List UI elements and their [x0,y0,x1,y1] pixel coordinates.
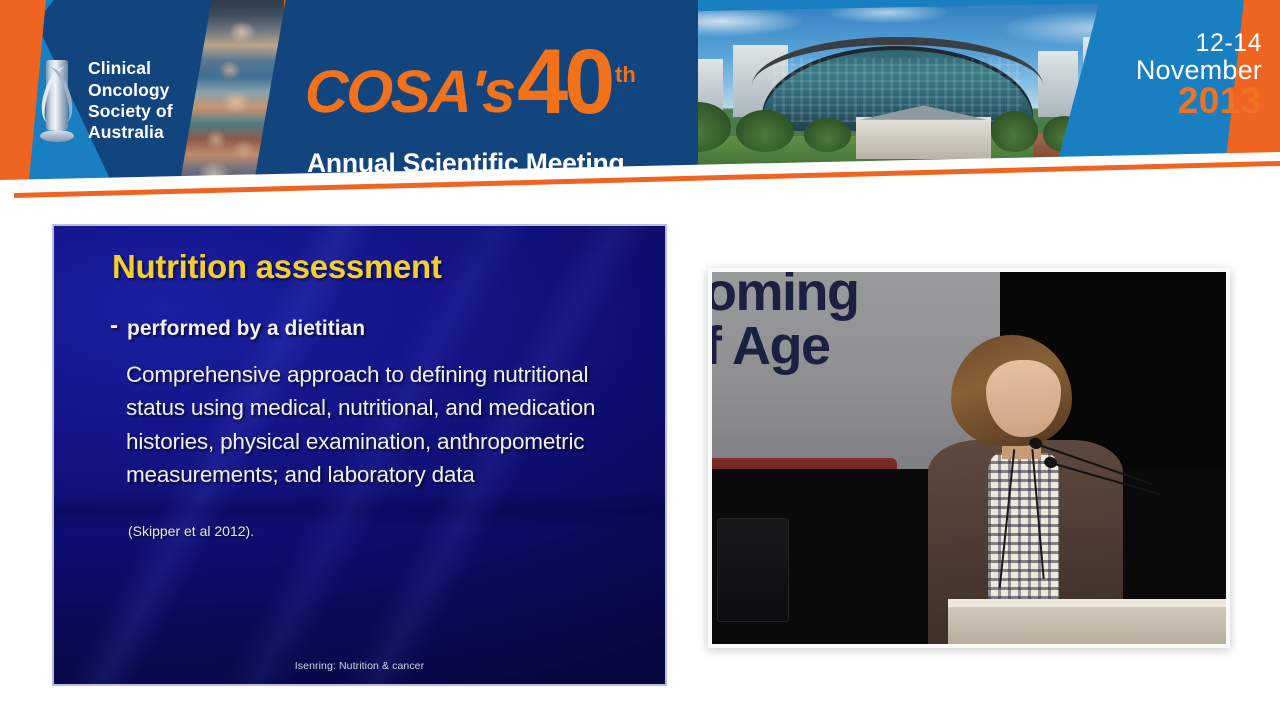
conference-dates: 12-14 November 2013 [1082,30,1262,121]
speaker-figure [928,335,1123,644]
society-line-2: Oncology [88,80,173,101]
speaker-video[interactable]: oming f Age [712,272,1226,644]
meeting-brand: COSA's [304,62,515,122]
backdrop-line-1: oming [712,272,858,318]
lectern [948,599,1226,644]
date-year: 2013 [1082,82,1262,120]
speaker-video-frame[interactable]: oming f Age [708,268,1230,648]
date-range: 12-14 [1082,30,1262,56]
slide-body-text: Comprehensive approach to defining nutri… [126,358,646,491]
meeting-ordinal-suffix: th [615,64,636,86]
stage-backdrop-text: oming f Age [712,272,858,373]
meeting-title-lockup: COSA's 40 th Annual Scientific Meeting [305,36,645,132]
society-line-1: Clinical [88,58,173,79]
society-line-4: Australia [88,122,173,143]
conference-banner: 12-14 November 2013 Clinical Oncology S [0,0,1280,212]
meeting-ordinal-number: 40 [517,36,611,128]
slide-bullet-item: - performed by a dietitian [110,316,365,341]
backdrop-line-2: f Age [712,320,858,372]
slide-title: Nutrition assessment [112,248,442,286]
slide-citation: (Skipper et al 2012). [128,523,254,539]
presentation-slide[interactable]: Nutrition assessment - performed by a di… [52,224,667,686]
cosa-society-logo: Clinical Oncology Society of Australia [38,58,173,144]
stage-monitor [717,518,789,622]
society-line-3: Society of [88,101,173,122]
cosa-society-name: Clinical Oncology Society of Australia [88,58,173,143]
slide-bullet-label: performed by a dietitian [127,317,365,341]
cosa-helix-logo-icon [38,58,76,144]
presentation-viewer: 12-14 November 2013 Clinical Oncology S [0,0,1280,720]
bullet-dash-icon: - [110,314,118,338]
slide-footer: Isenring: Nutrition & cancer [54,660,665,672]
